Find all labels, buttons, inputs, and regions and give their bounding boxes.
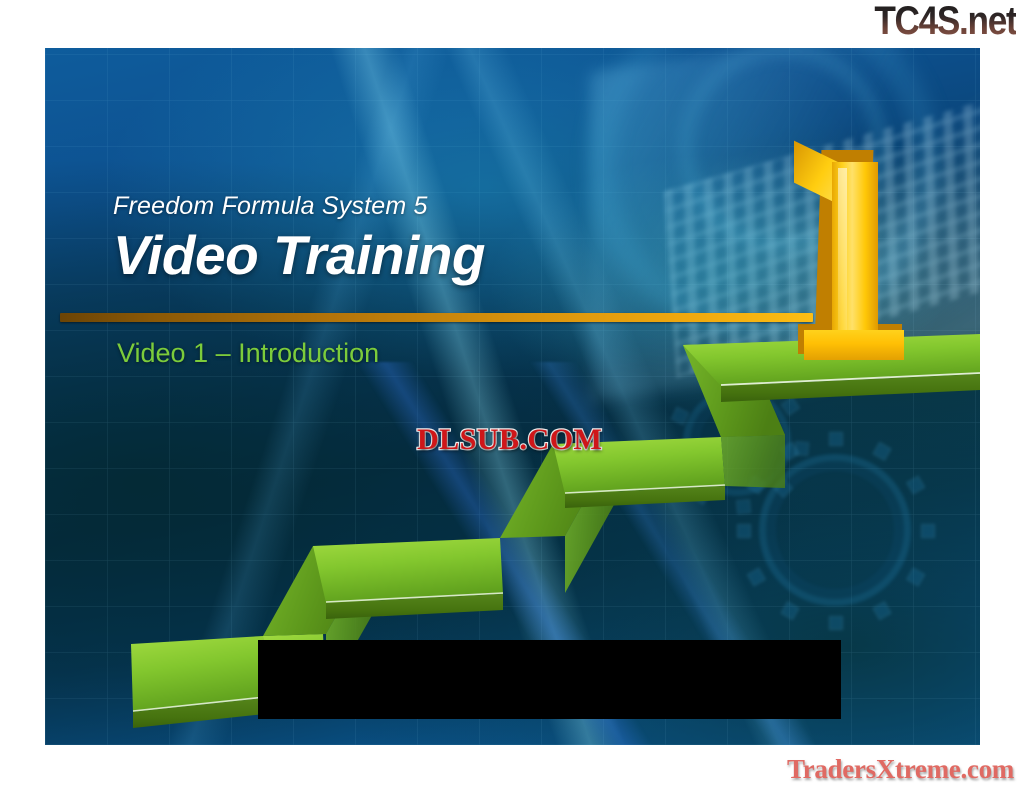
- watermark-tradersxtreme: TradersXtreme.com: [787, 754, 1014, 785]
- page-title: Video Training: [113, 225, 873, 287]
- watermark-tc4s: TC4S.net: [874, 0, 1016, 42]
- title-divider-rule: [60, 313, 813, 322]
- presentation-slide: Freedom Formula System 5 Video Training …: [45, 48, 980, 745]
- slide-eyebrow-text: Freedom Formula System 5: [113, 193, 873, 221]
- black-redaction-bar: [258, 640, 841, 719]
- numeral-base: [804, 330, 904, 360]
- stair-tread-2: [313, 538, 503, 603]
- watermark-dlsub: DLSUB.COM: [417, 423, 602, 457]
- slide-subtitle-text: Video 1 – Introduction: [117, 338, 379, 369]
- title-block: Freedom Formula System 5 Video Training: [113, 193, 873, 286]
